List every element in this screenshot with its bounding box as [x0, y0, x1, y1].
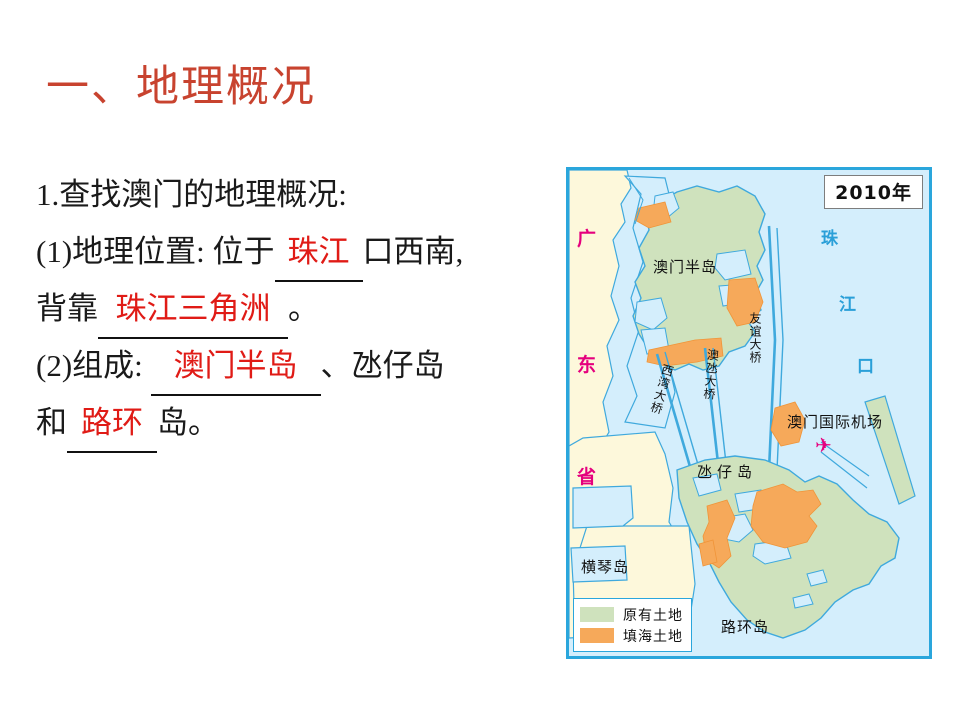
answer-blank-delta[interactable]: 珠江三角洲 [98, 280, 288, 339]
text-line-4: (2)组成: 澳门半岛、氹仔岛 [36, 337, 566, 394]
label-guangdong-char-3: 省 [577, 470, 596, 484]
text-line-3: 背靠珠江三角洲。 [36, 280, 566, 337]
label-guangdong-char-2: 东 [577, 358, 596, 372]
answer-blank-location[interactable]: 珠江 [275, 223, 363, 282]
label-macau-airport: 澳门国际机场 [787, 415, 883, 429]
body-text-block: 1.查找澳门的地理概况: (1)地理位置: 位于珠江口西南, 背靠珠江三角洲。 … [36, 166, 566, 451]
line5-suffix: 岛。 [157, 405, 219, 440]
label-hengqin-island: 横琴岛 [581, 560, 629, 574]
line2-suffix: 口西南, [363, 234, 464, 269]
answer-blank-peninsula[interactable]: 澳门半岛 [151, 337, 321, 396]
page-title: 一、地理概况 [46, 64, 316, 111]
line3-prefix: 背靠 [36, 291, 98, 326]
legend-swatch-reclaimed-land [580, 628, 614, 643]
line4-prefix: (2)组成: [36, 348, 151, 383]
label-pearl-estuary-char-3: 口 [857, 360, 874, 374]
line1-text: 1.查找澳门的地理概况: [36, 177, 347, 212]
macau-map[interactable]: 2010年 广 东 省 珠 江 口 澳门半岛 氹仔岛 路环岛 横琴岛 澳门国际机… [566, 167, 932, 659]
label-guangdong-char-1: 广 [577, 232, 596, 246]
line3-suffix: 。 [288, 291, 319, 326]
label-pearl-estuary-char-1: 珠 [821, 232, 838, 246]
line2-prefix: (1)地理位置: 位于 [36, 234, 275, 269]
legend-label-reclaimed-land: 填海土地 [623, 626, 683, 646]
label-pearl-estuary-char-2: 江 [839, 298, 856, 312]
text-line-2: (1)地理位置: 位于珠江口西南, [36, 223, 566, 280]
line5-prefix: 和 [36, 405, 67, 440]
answer-blank-coloane[interactable]: 路环 [67, 394, 157, 453]
legend-row-original: 原有土地 [580, 604, 683, 625]
text-line-5: 和路环岛。 [36, 394, 566, 451]
text-line-1: 1.查找澳门的地理概况: [36, 166, 566, 223]
inlet-water-1 [573, 486, 633, 528]
legend-label-original-land: 原有土地 [623, 605, 683, 625]
legend-row-reclaimed: 填海土地 [580, 625, 683, 646]
line4-suffix: 、氹仔岛 [321, 348, 445, 383]
airplane-icon: ✈ [815, 436, 832, 456]
map-year-badge: 2010年 [824, 175, 923, 209]
label-coloane-island: 路环岛 [721, 620, 769, 634]
slide-canvas: 一、地理概况 1.查找澳门的地理概况: (1)地理位置: 位于珠江口西南, 背靠… [0, 0, 960, 720]
map-legend: 原有土地 填海土地 [573, 598, 692, 652]
label-taipa-island: 氹仔岛 [697, 465, 757, 479]
label-bridge-friendship: 友谊大桥 [747, 312, 762, 364]
legend-swatch-original-land [580, 607, 614, 622]
label-macau-peninsula: 澳门半岛 [653, 260, 717, 274]
